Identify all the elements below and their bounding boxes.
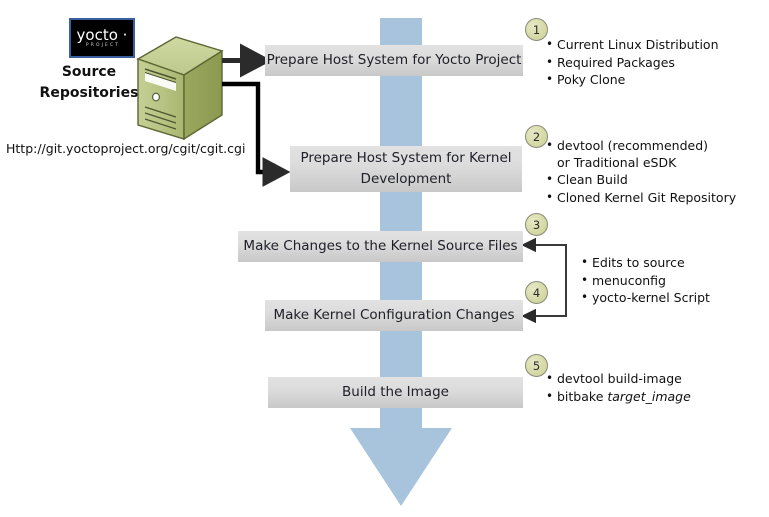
process-box-label: Make Kernel Configuration Changes [273,305,514,326]
process-box-label-line2: Development [300,169,511,190]
main-flow-arrow [338,18,458,506]
logo-wordmark: yocto · [77,28,128,42]
bullet-group-steps-3-4: Edits to source menuconfig yocto-kernel … [580,255,710,308]
step-number-4: 4 [525,281,548,304]
process-box-prepare-host-yocto[interactable]: Prepare Host System for Yocto Project [265,45,523,76]
yocto-project-logo: yocto · PROJECT [69,18,135,58]
bitbake-target-arg: target_image [607,389,690,404]
bullet-group-step-5: devtool build-image bitbake target_image [545,371,691,406]
step-number-3: 3 [525,213,548,236]
process-box-make-source-changes[interactable]: Make Changes to the Kernel Source Files [238,231,523,262]
server-tower-icon [132,33,228,143]
list-item: Required Packages [545,55,719,72]
connector-source-to-step2 [222,84,272,172]
bullet-group-step-1: Current Linux Distribution Required Pack… [545,37,719,90]
process-box-prepare-host-kernel[interactable]: Prepare Host System for Kernel Developme… [290,146,522,192]
process-box-label: Make Changes to the Kernel Source Files [243,236,517,257]
list-item: yocto-kernel Script [580,290,710,307]
list-item: Edits to source [580,255,710,272]
list-item: devtool build-image [545,371,691,388]
list-item: devtool (recommended) or Traditional eSD… [545,138,717,171]
list-item-bitbake: bitbake target_image [545,389,691,406]
process-box-build-image[interactable]: Build the Image [268,377,523,408]
process-box-make-config-changes[interactable]: Make Kernel Configuration Changes [265,300,523,331]
diagram-canvas: yocto · PROJECT Source Repositories Http… [0,0,769,517]
process-box-label-line1: Prepare Host System for Kernel [300,148,511,169]
list-item: Clean Build [545,172,736,189]
source-label-line1: Source [34,62,144,83]
source-repositories-label: Source Repositories [34,62,144,104]
source-label-line2: Repositories [34,83,144,104]
list-item: Poky Clone [545,72,719,89]
source-repository-url: Http://git.yoctoproject.org/cgit/cgit.cg… [6,141,245,156]
bitbake-command: bitbake [557,389,607,404]
process-box-label: Build the Image [342,382,449,403]
logo-subtext: PROJECT [86,43,120,49]
bullet-group-step-2: devtool (recommended) or Traditional eSD… [545,138,736,207]
list-item: menuconfig [580,273,710,290]
process-box-label: Prepare Host System for Yocto Project [267,50,522,71]
list-item: Cloned Kernel Git Repository [545,190,736,207]
list-item: Current Linux Distribution [545,37,719,54]
